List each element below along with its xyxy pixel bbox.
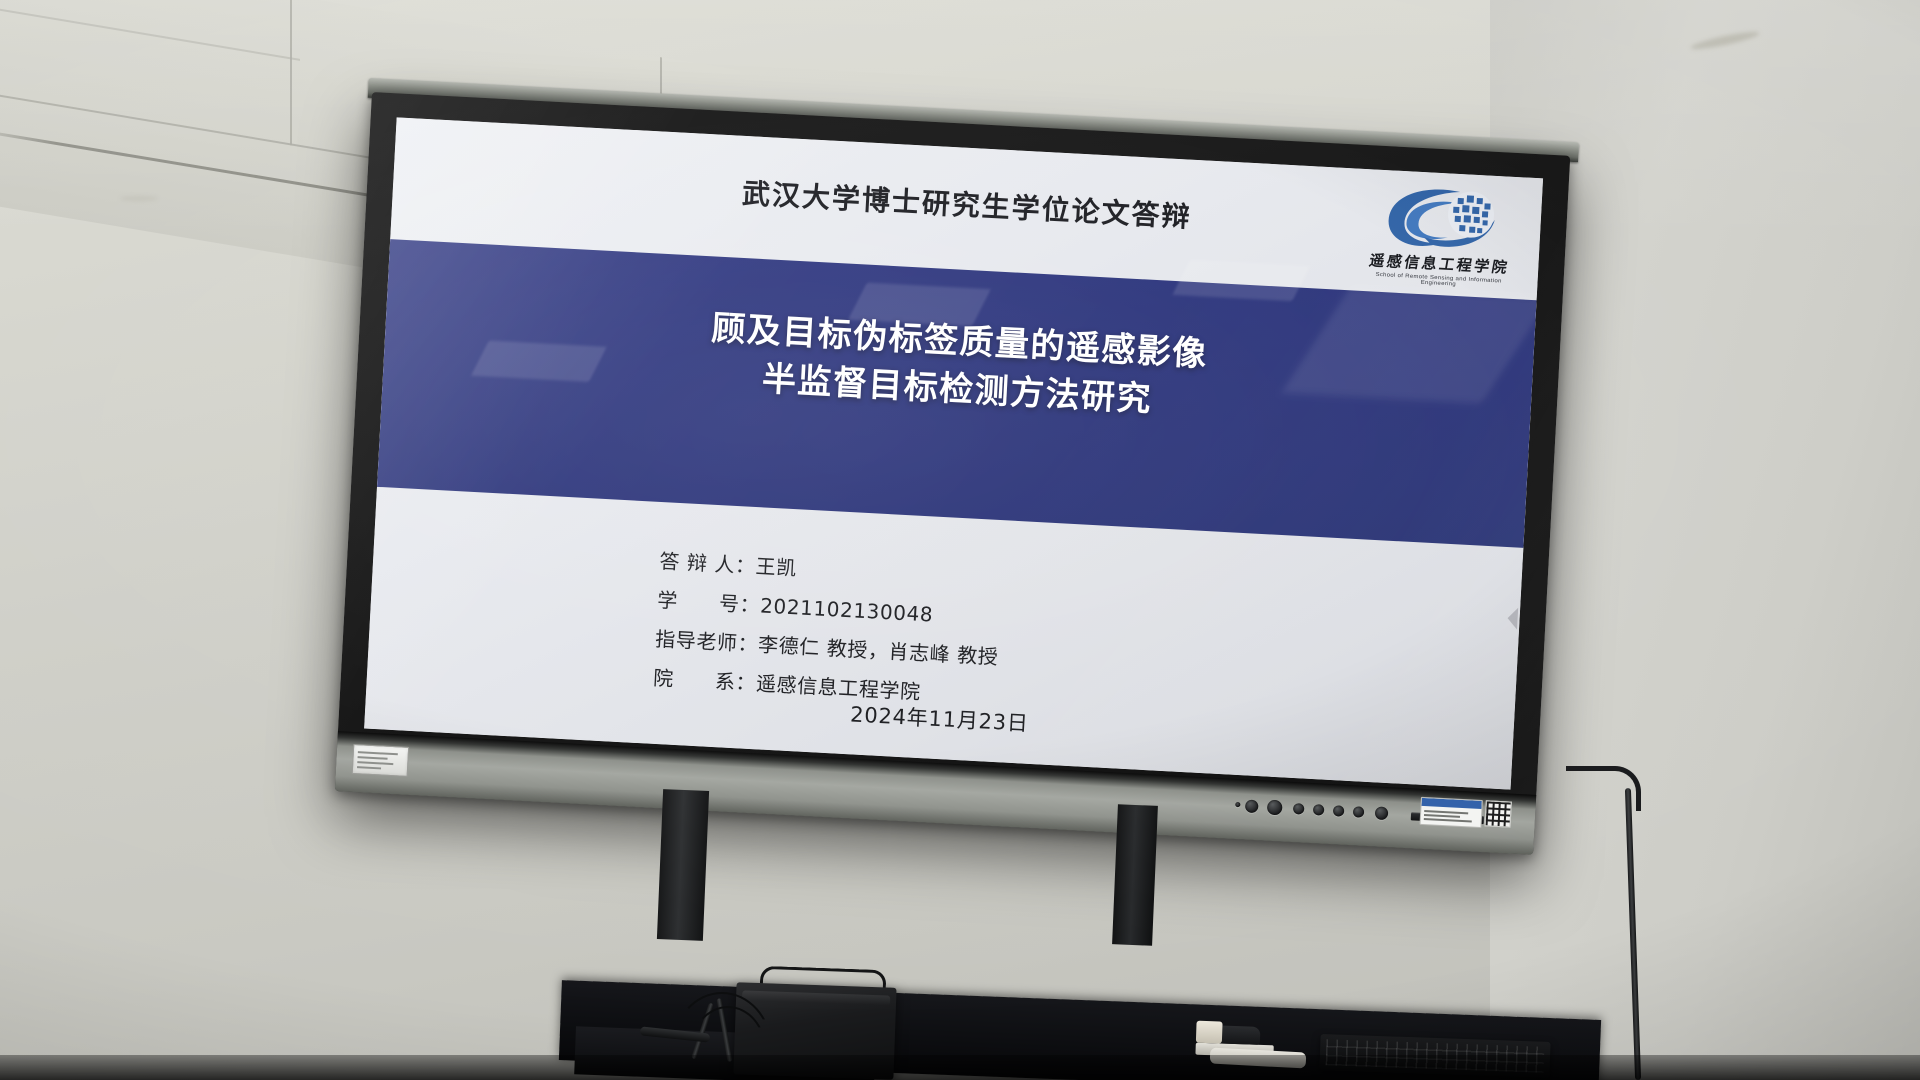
back-button[interactable] bbox=[1375, 806, 1389, 820]
power-button[interactable] bbox=[1245, 799, 1259, 813]
info-value-advisors: 李德仁 教授，肖志峰 教授 bbox=[758, 632, 999, 669]
label-header-bar bbox=[1422, 798, 1482, 809]
ceiling-grid-line bbox=[0, 2, 300, 61]
display-stand-column-right bbox=[1112, 804, 1158, 946]
source-button[interactable] bbox=[1293, 803, 1305, 815]
qr-code-sticker bbox=[1485, 800, 1512, 827]
stapler-cap bbox=[1196, 1021, 1223, 1044]
display-stand-column-left bbox=[657, 789, 709, 941]
info-value-presenter: 王凯 bbox=[755, 554, 797, 580]
ceiling-grid-line bbox=[290, 0, 292, 146]
info-label-advisors: 指导老师： bbox=[655, 627, 759, 656]
device-spec-label bbox=[1419, 797, 1482, 828]
bezel-sticker-left bbox=[352, 744, 410, 777]
info-label-presenter: 答 辩 人： bbox=[659, 549, 756, 578]
floor-shadow bbox=[0, 1055, 1920, 1080]
volume-up-button[interactable] bbox=[1333, 805, 1345, 817]
ir-sensor-dot bbox=[1235, 802, 1240, 807]
display-screen[interactable]: 武汉大学博士研究生学位论文答辩 顾及目标伪标签质量的遥感影像 半监督目标检测方法… bbox=[364, 117, 1543, 789]
info-value-student-id: 2021102130048 bbox=[760, 593, 934, 626]
logo-mark-icon bbox=[1365, 179, 1519, 257]
volume-down-button[interactable] bbox=[1313, 804, 1325, 816]
menu-button[interactable] bbox=[1267, 800, 1283, 816]
info-label-student-id: 学 号： bbox=[657, 588, 761, 617]
school-logo: 遥感信息工程学院 School of Remote Sensing and In… bbox=[1363, 179, 1519, 299]
wall-scuff bbox=[120, 196, 158, 201]
presentation-slide: 武汉大学博士研究生学位论文答辩 顾及目标伪标签质量的遥感影像 半监督目标检测方法… bbox=[364, 117, 1543, 789]
screen-edge-arrow-icon[interactable] bbox=[1507, 607, 1518, 630]
room-photo-scene: 武汉大学博士研究生学位论文答辩 顾及目标伪标签质量的遥感影像 半监督目标检测方法… bbox=[0, 0, 1920, 1080]
home-button[interactable] bbox=[1353, 806, 1365, 818]
interactive-display[interactable]: 武汉大学博士研究生学位论文答辩 顾及目标伪标签质量的遥感影像 半监督目标检测方法… bbox=[335, 92, 1571, 855]
